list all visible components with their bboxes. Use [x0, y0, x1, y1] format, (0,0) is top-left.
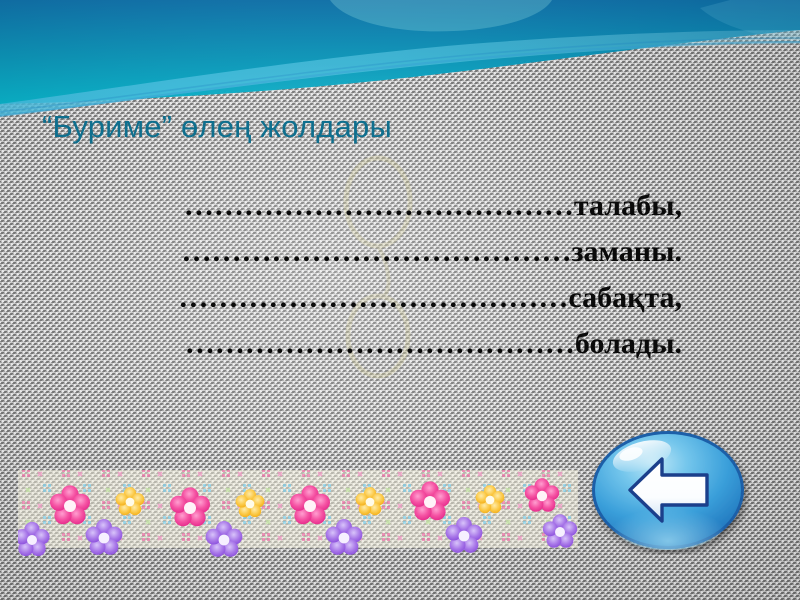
poem-line: …………………………………сабақта, [42, 275, 682, 321]
poem-line: …………………………………болады. [42, 321, 682, 367]
back-arrow-button[interactable] [590, 428, 750, 554]
poem-line: …………………………………заманы. [42, 229, 682, 275]
page-title: “Буриме” өлең жолдары [42, 109, 392, 145]
poem-lines-list: …………………………………талабы, …………………………………заманы… [42, 183, 682, 367]
presentation-slide: “Буриме” өлең жолдары …………………………………талаб… [0, 0, 800, 600]
header-banner [0, 0, 800, 120]
poem-line: …………………………………талабы, [42, 183, 682, 229]
